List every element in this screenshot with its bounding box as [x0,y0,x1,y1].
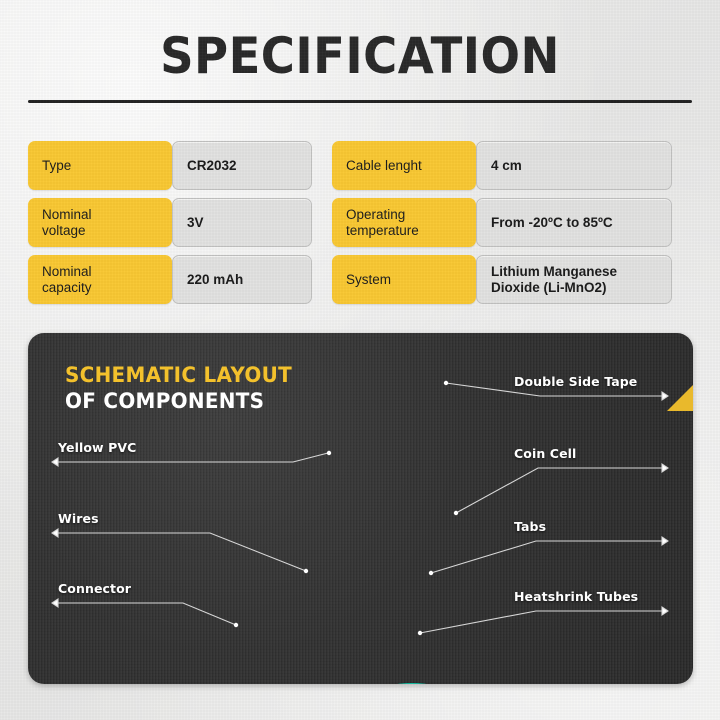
spec-value-type-text: CR2032 [187,158,237,174]
page-title: SPECIFICATION [25,27,695,85]
spec-value-nominal-voltage: 3V [172,198,312,247]
spec-label-nominal-voltage-line2: voltage [42,223,92,239]
spec-value-system-line1: Lithium Manganese [491,264,617,280]
schematic-heading: SCHEMATIC LAYOUT OF COMPONENTS [65,363,292,414]
column-gap [312,141,332,190]
callout-wires: Wires [58,511,99,526]
spec-label-system-text: System [346,272,391,288]
spec-value-system-line2: Dioxide (Li-MnO2) [491,280,617,296]
spec-label-type-text: Type [42,158,71,174]
spec-value-nominal-capacity: 220 mAh [172,255,312,304]
spec-label-type: Type [28,141,172,190]
column-gap [312,198,332,247]
spec-value-cable-length: 4 cm [476,141,672,190]
spec-label-operating-temperature-line1: Operating [346,207,419,223]
callout-connector: Connector [58,581,131,596]
specification-table: Type CR2032 Cable lenght 4 cm Nominal vo… [28,141,692,304]
spec-label-cable-length: Cable lenght [332,141,476,190]
spec-label-operating-temperature: Operating temperature [332,198,476,247]
double-side-tape-shape [353,683,471,684]
spec-label-nominal-voltage-line1: Nominal [42,207,92,223]
schematic-heading-line2: OF COMPONENTS [65,388,292,414]
callout-double-side-tape: Double Side Tape [514,374,637,389]
schematic-panel: SCHEMATIC LAYOUT OF COMPONENTS [28,333,693,684]
callout-tabs: Tabs [514,519,546,534]
spec-label-nominal-capacity-line1: Nominal [42,264,92,280]
spec-value-operating-temperature: From -20ºC to 85ºC [476,198,672,247]
spec-value-type: CR2032 [172,141,312,190]
page-root: SPECIFICATION Type CR2032 Cable lenght 4… [0,0,720,720]
callout-heatshrink-tubes: Heatshrink Tubes [514,589,638,604]
callout-coin-cell: Coin Cell [514,446,576,461]
spec-value-cable-length-text: 4 cm [491,158,522,174]
spec-value-operating-temperature-text: From -20ºC to 85ºC [491,215,613,231]
title-divider [28,100,692,103]
schematic-heading-line1: SCHEMATIC LAYOUT [65,363,292,388]
spec-label-nominal-voltage: Nominal voltage [28,198,172,247]
spec-label-nominal-capacity: Nominal capacity [28,255,172,304]
column-gap [312,255,332,304]
spec-label-nominal-capacity-line2: capacity [42,280,92,296]
spec-value-system: Lithium Manganese Dioxide (Li-MnO2) [476,255,672,304]
spec-label-operating-temperature-line2: temperature [346,223,419,239]
callout-yellow-pvc: Yellow PVC [58,440,136,455]
spec-value-nominal-capacity-text: 220 mAh [187,272,243,288]
spec-label-cable-length-text: Cable lenght [346,158,422,174]
spec-label-system: System [332,255,476,304]
spec-value-nominal-voltage-text: 3V [187,215,204,231]
